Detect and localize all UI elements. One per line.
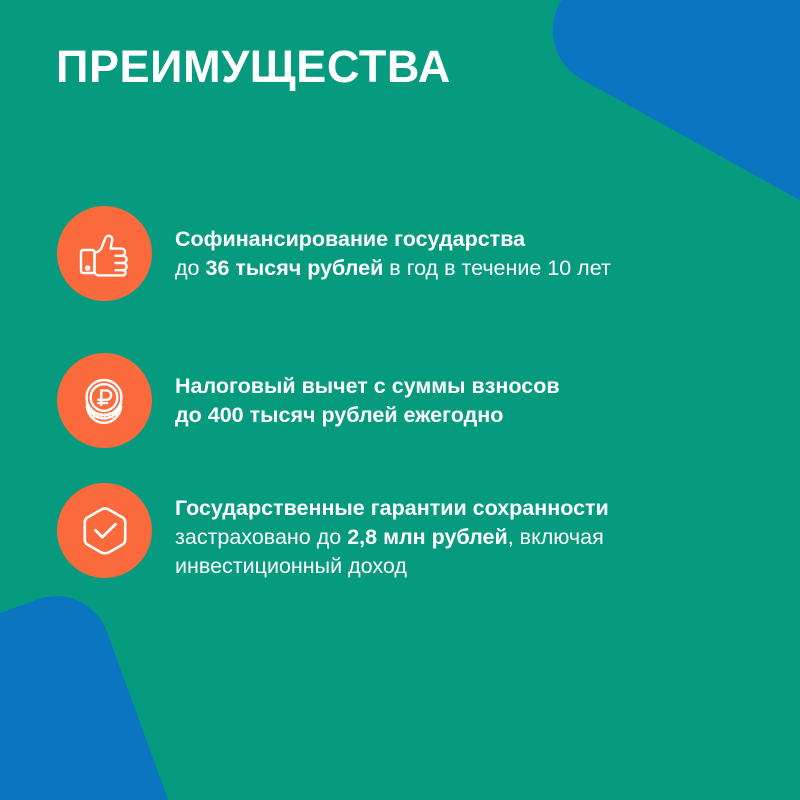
benefit-text-segment: 36 тысяч рублей	[205, 256, 383, 280]
ruble-coin-icon	[57, 353, 152, 448]
benefit-row: Софинансирование государствадо 36 тысяч …	[0, 206, 800, 301]
hexagon-check-icon	[57, 483, 152, 578]
benefit-text: Налоговый вычет с суммы взносовдо 400 ты…	[152, 353, 800, 430]
poster-canvas: ПРЕИМУЩЕСТВА Софинансирование государств…	[0, 0, 800, 800]
benefit-text-segment: 2,8 млн рублей	[347, 525, 507, 549]
benefit-heading: Софинансирование государства	[175, 225, 800, 254]
benefit-detail-line: застраховано до 2,8 млн рублей, включая	[175, 523, 800, 552]
benefit-text-segment: , включая	[508, 525, 604, 549]
benefit-text: Государственные гарантии сохранностизаст…	[152, 483, 800, 581]
top-right-blue-shape	[533, 0, 800, 227]
page-title: ПРЕИМУЩЕСТВА	[56, 42, 451, 92]
benefit-detail-line: инвестиционный доход	[175, 552, 800, 581]
bottom-left-blue-shape	[0, 581, 191, 800]
thumbs-up-icon	[57, 206, 152, 301]
benefit-row: Налоговый вычет с суммы взносовдо 400 ты…	[0, 353, 800, 448]
benefit-heading: Налоговый вычет с суммы взносов	[175, 372, 800, 401]
benefit-text-segment: в год в течение 10 лет	[383, 256, 610, 280]
benefit-text-segment: застраховано до	[175, 525, 347, 549]
benefits-list: Софинансирование государствадо 36 тысяч …	[0, 206, 800, 581]
benefit-detail-line: до 400 тысяч рублей ежегодно	[175, 401, 800, 430]
benefit-text-segment: до	[175, 256, 205, 280]
benefit-text: Софинансирование государствадо 36 тысяч …	[152, 206, 800, 283]
benefit-row: Государственные гарантии сохранностизаст…	[0, 483, 800, 581]
benefit-detail-line: до 36 тысяч рублей в год в течение 10 ле…	[175, 254, 800, 283]
benefit-heading: Государственные гарантии сохранности	[175, 494, 800, 523]
